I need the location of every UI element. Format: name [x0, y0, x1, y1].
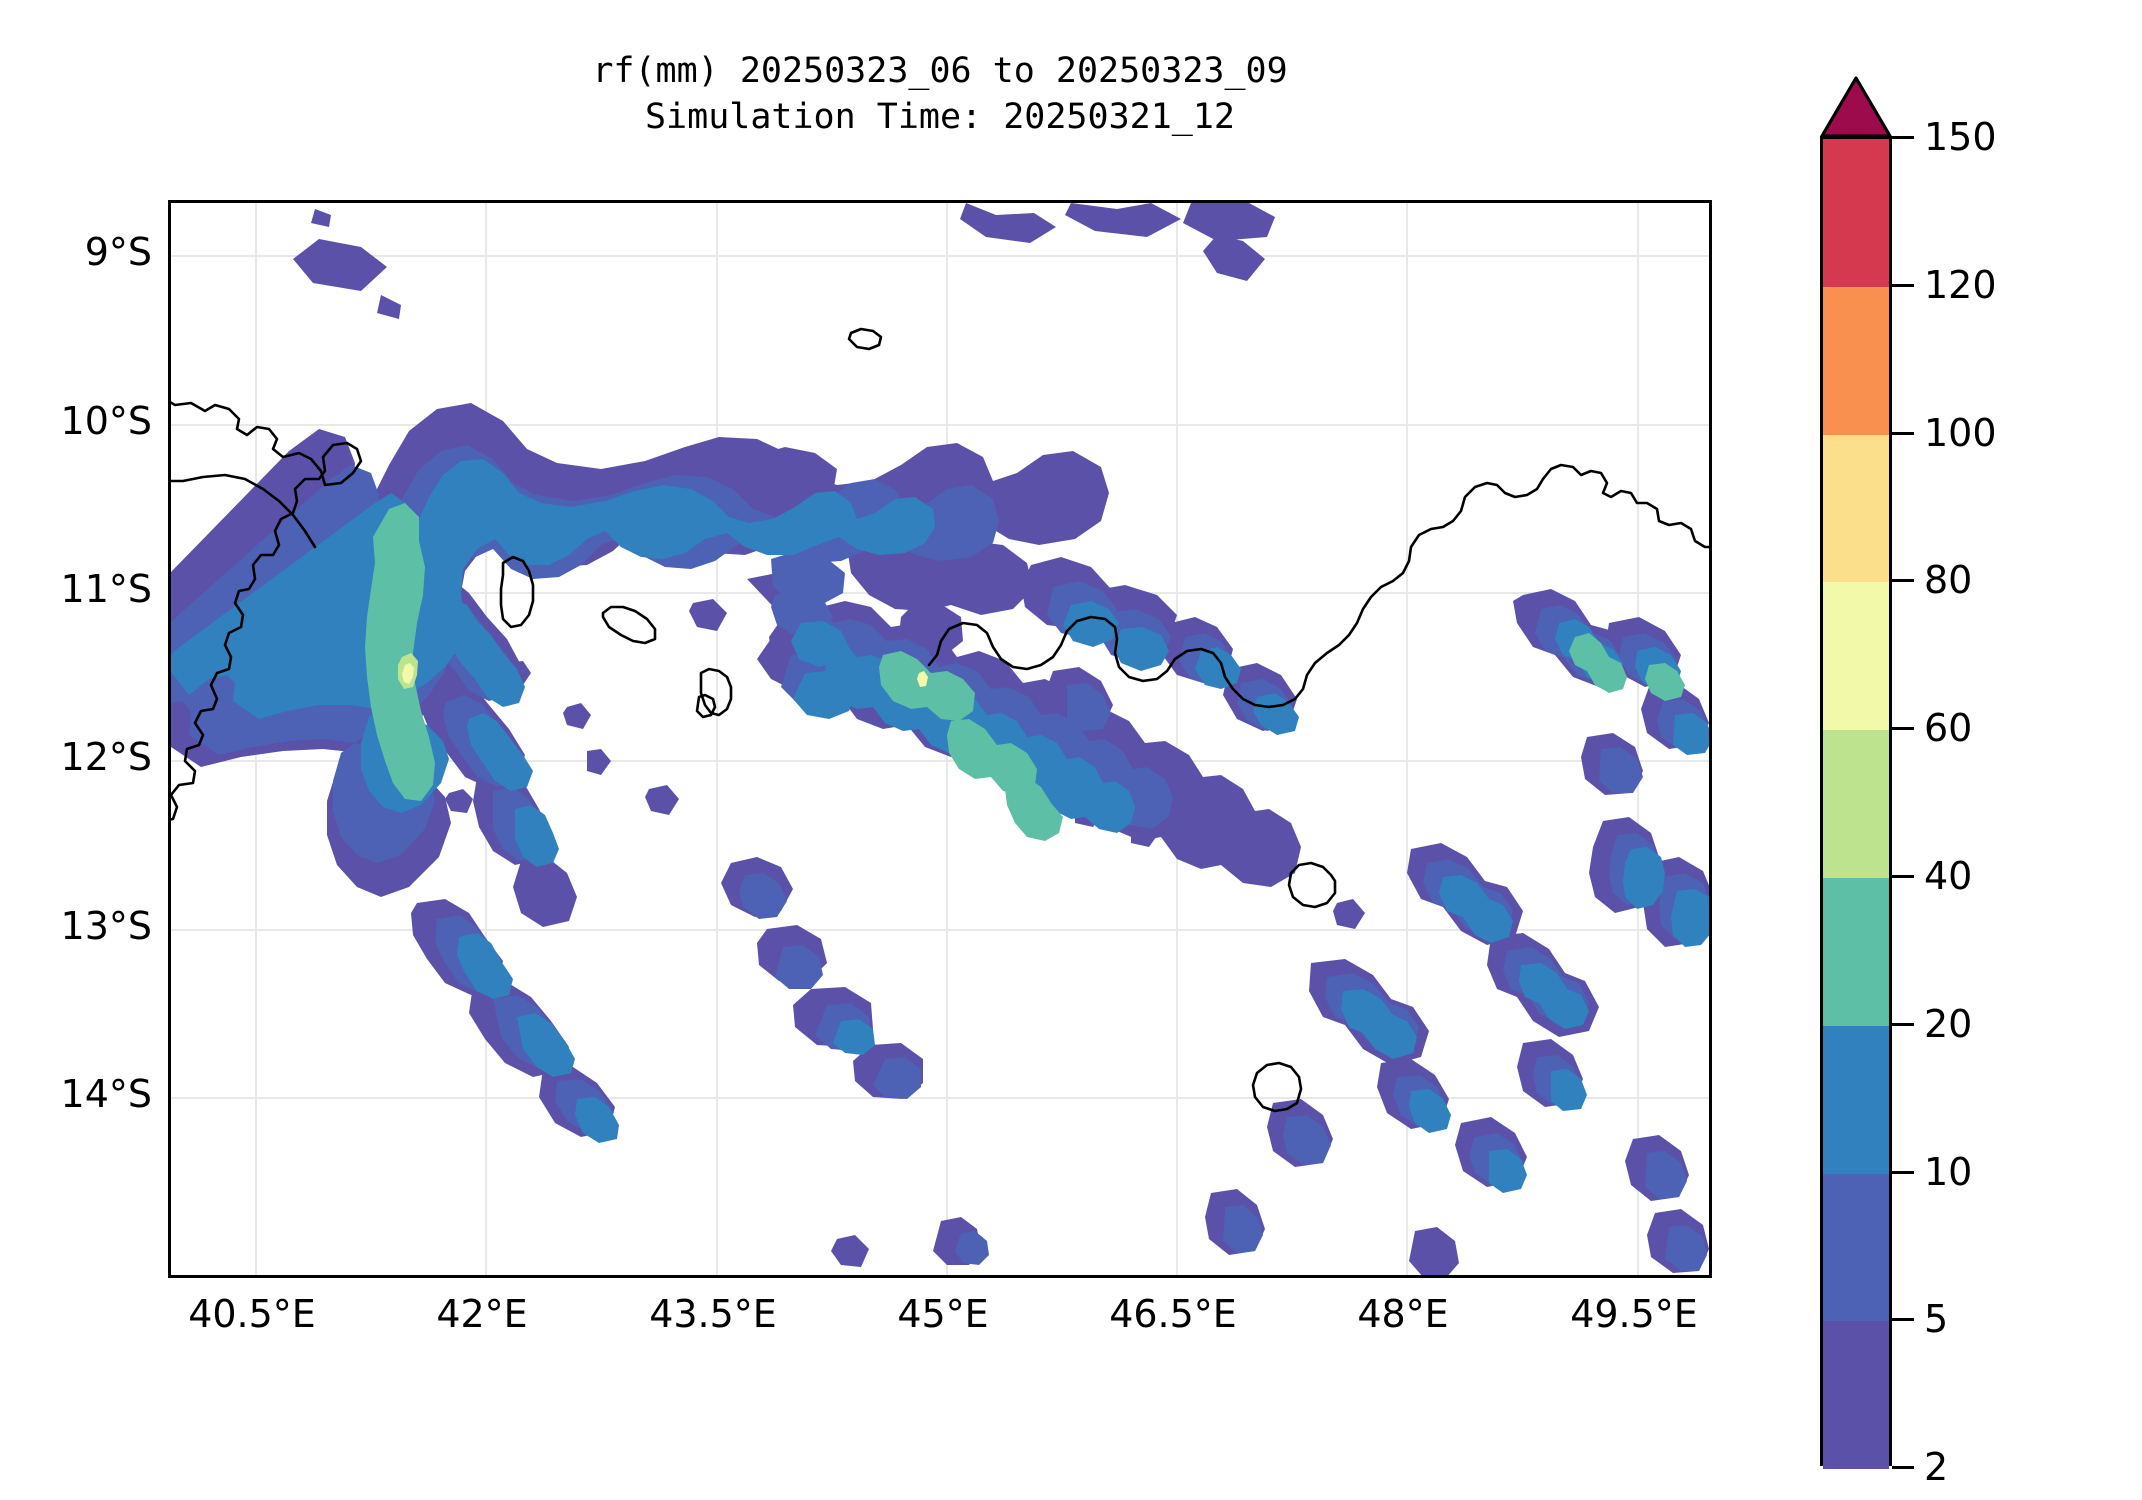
- colorbar-band-40-60: [1823, 730, 1889, 878]
- colorbar-tick-label: 60: [1924, 706, 1972, 750]
- colorbar-band-60-80: [1823, 582, 1889, 730]
- colorbar-band-20-40: [1823, 878, 1889, 1026]
- title-line-2: Simulation Time: 20250321_12: [168, 94, 1712, 140]
- ytick-label: 14°S: [61, 1072, 152, 1116]
- xtick-label: 49.5°E: [1570, 1292, 1698, 1336]
- colorbar-tick-label: 10: [1924, 1150, 1972, 1194]
- colorbar-tick: [1892, 1171, 1914, 1174]
- ytick-label: 13°S: [61, 904, 152, 948]
- colorbar-band-2-5: [1823, 1321, 1889, 1469]
- ytick-label: 11°S: [61, 567, 152, 611]
- xtick-label: 42°E: [436, 1292, 527, 1336]
- colorbar-tick-label: 2: [1924, 1445, 1948, 1489]
- xtick-label: 48°E: [1357, 1292, 1448, 1336]
- colorbar-tick: [1892, 1466, 1914, 1469]
- colorbar-tick: [1892, 1318, 1914, 1321]
- xtick-label: 46.5°E: [1109, 1292, 1237, 1336]
- colorbar: 150 120 100 80 60 40 20 10 5 2: [1820, 38, 1940, 1438]
- title-line-1: rf(mm) 20250323_06 to 20250323_09: [168, 48, 1712, 94]
- colorbar-tick: [1892, 875, 1914, 878]
- colorbar-tick: [1892, 432, 1914, 435]
- xtick-label: 45°E: [897, 1292, 988, 1336]
- map-canvas: [171, 203, 1709, 1275]
- rainfall-contour-layer: [171, 203, 1712, 1278]
- colorbar-tick: [1892, 136, 1914, 139]
- colorbar-tick-label: 120: [1924, 263, 1997, 307]
- colorbar-tick-label: 40: [1924, 854, 1972, 898]
- colorbar-tick-label: 80: [1924, 558, 1972, 602]
- colorbar-tick-label: 20: [1924, 1002, 1972, 1046]
- colorbar-tick-label: 100: [1924, 411, 1997, 455]
- colorbar-band-10-20: [1823, 1026, 1889, 1174]
- chart-title: rf(mm) 20250323_06 to 20250323_09 Simula…: [168, 48, 1712, 140]
- colorbar-tick-label: 150: [1924, 115, 1997, 159]
- colorbar-gradient: [1820, 136, 1892, 1466]
- colorbar-tick: [1892, 284, 1914, 287]
- colorbar-tick-label: 5: [1924, 1297, 1948, 1341]
- xtick-label: 43.5°E: [649, 1292, 777, 1336]
- ytick-label: 9°S: [85, 230, 152, 274]
- map-plot-area: [168, 200, 1712, 1278]
- colorbar-band-80-100: [1823, 435, 1889, 583]
- ytick-label: 12°S: [61, 735, 152, 779]
- colorbar-band-100-120: [1823, 287, 1889, 435]
- xtick-label: 40.5°E: [188, 1292, 316, 1336]
- colorbar-band-120-150: [1823, 139, 1889, 287]
- colorbar-band-5-10: [1823, 1174, 1889, 1322]
- colorbar-tick: [1892, 1023, 1914, 1026]
- ytick-label: 10°S: [61, 399, 152, 443]
- colorbar-extend-arrow: [1820, 76, 1892, 138]
- colorbar-tick: [1892, 579, 1914, 582]
- colorbar-tick: [1892, 727, 1914, 730]
